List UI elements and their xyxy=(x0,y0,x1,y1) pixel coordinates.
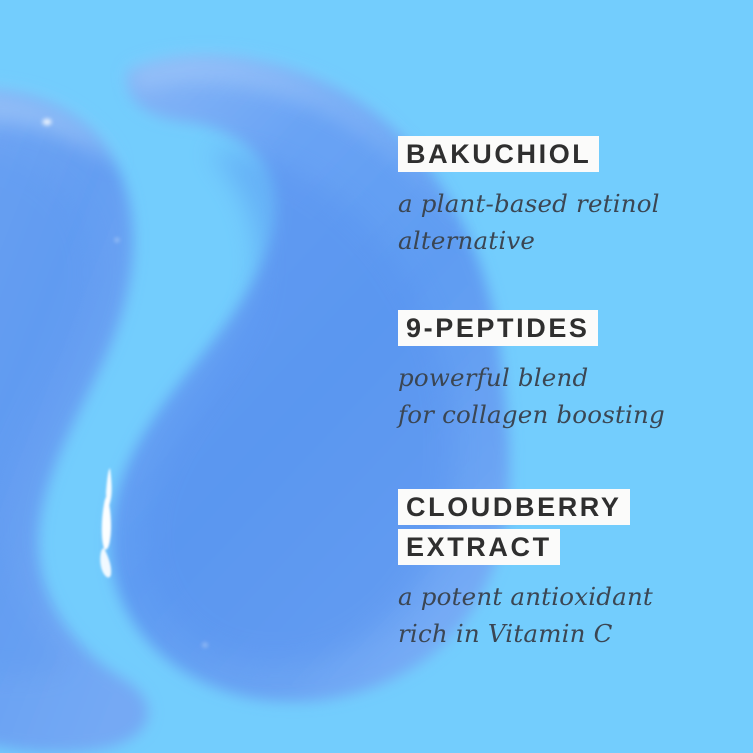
ingredient-block-bakuchiol: BAKUCHIOL a plant-based retinol alternat… xyxy=(398,136,660,259)
ingredient-heading-bakuchiol: BAKUCHIOL xyxy=(398,136,660,172)
product-ingredient-poster: BAKUCHIOL a plant-based retinol alternat… xyxy=(0,0,753,753)
ingredient-heading-line: CLOUDBERRY xyxy=(398,489,630,525)
ingredient-description-bakuchiol: a plant-based retinol alternative xyxy=(398,185,660,259)
ingredient-block-cloudberry: CLOUDBERRY EXTRACT a potent antioxidant … xyxy=(398,489,653,652)
ingredient-heading-cloudberry: CLOUDBERRY EXTRACT xyxy=(398,489,653,565)
ingredient-heading-line: BAKUCHIOL xyxy=(398,136,599,172)
ingredient-description-peptides: powerful blend for collagen boosting xyxy=(398,359,665,433)
ingredient-text-column: BAKUCHIOL a plant-based retinol alternat… xyxy=(398,0,753,753)
ingredient-heading-line: EXTRACT xyxy=(398,529,560,565)
ingredient-heading-line: 9-PEPTIDES xyxy=(398,310,598,346)
ingredient-description-cloudberry: a potent antioxidant rich in Vitamin C xyxy=(398,578,653,652)
ingredient-heading-peptides: 9-PEPTIDES xyxy=(398,310,665,346)
ingredient-block-peptides: 9-PEPTIDES powerful blend for collagen b… xyxy=(398,310,665,433)
